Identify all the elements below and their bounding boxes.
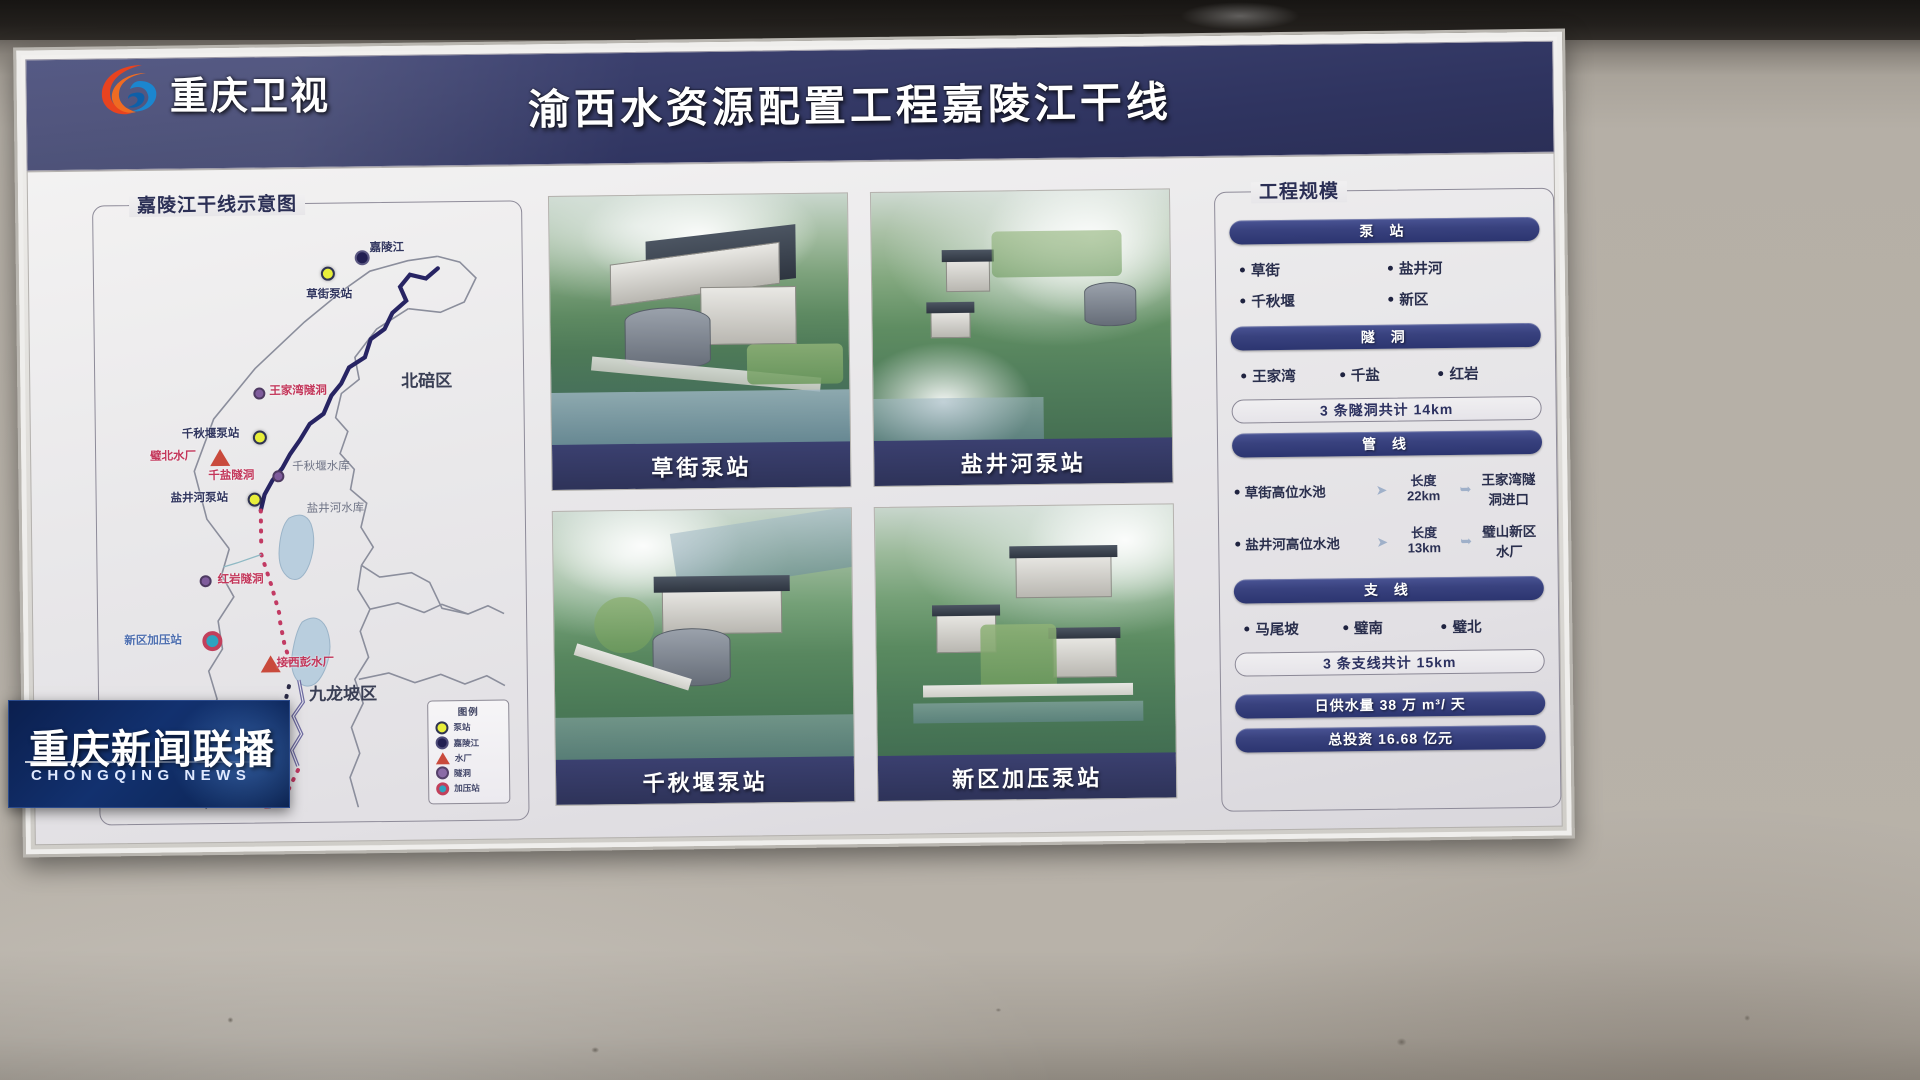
map-legend-label-plant: 水厂 (455, 751, 472, 763)
spec-panel-legend: 工程规模 (1241, 176, 1357, 204)
rendering-caption-caojie: 草街泵站 (552, 441, 851, 490)
map-legend-label-river: 嘉陵江 (454, 736, 480, 748)
list-item: 盐井河 (1388, 251, 1536, 284)
plant-triangle-icon (436, 752, 450, 764)
chevron-right-icon: ➤ (1375, 481, 1389, 498)
map-node-xinqu-booster[interactable] (202, 631, 222, 651)
list-item: 璧北 (1441, 610, 1540, 642)
pipeline-length: 长度13km (1393, 526, 1455, 557)
map-legend-label-booster: 加压站 (454, 782, 480, 794)
divider (25, 761, 275, 763)
map-node-qianyan-tunnel[interactable] (272, 470, 284, 482)
chevron-left-icon: ➥ (1459, 480, 1473, 497)
list-item: 红岩 (1438, 357, 1537, 389)
channel-logo: 重庆卫视 (96, 55, 356, 125)
map-label-yanjinghe-pump: 盐井河泵站 (171, 489, 229, 506)
spec-summary-branch: 3 条支线共计 15km (1235, 649, 1545, 677)
map-label-xipeng-plant: 接西彭水厂 (277, 654, 335, 671)
rendering-card-qianqiuyan[interactable]: 千秋堰泵站 (552, 507, 856, 806)
program-name-en: CHONGQING NEWS (31, 767, 251, 784)
rendering-image-yanjinghe (871, 189, 1172, 443)
spec-items-pump: 草街 盐井河 千秋堰 新区 (1230, 249, 1541, 317)
map-legend-row-booster: 加压站 (436, 781, 509, 795)
program-lower-third: 重庆新闻联播 CHONGQING NEWS (8, 700, 290, 808)
map-node-hongyan-tunnel[interactable] (200, 575, 212, 587)
map-label-qianqiuyan-reservoir: 千秋堰水库 (292, 457, 350, 474)
spec-items-tunnel: 王家湾 千盐 红岩 (1231, 355, 1541, 392)
spec-total-daily-supply: 日供水量 38 万 m³/ 天 (1235, 691, 1545, 719)
map-legend-label-tunnel: 隧洞 (454, 766, 471, 778)
map-legend-row-tunnel: 隧洞 (436, 766, 509, 780)
pipeline-length: 长度22km (1392, 474, 1454, 505)
rendering-card-yanjinghe[interactable]: 盐井河泵站 (870, 188, 1174, 487)
list-item: 千秋堰 (1240, 284, 1388, 317)
spec-section-header-pipeline: 管 线 (1232, 430, 1542, 458)
chevron-right-icon: ➤ (1375, 533, 1389, 550)
map-label-district-jiulongpo: 九龙坡区 (309, 679, 377, 705)
channel-logo-text: 重庆卫视 (170, 65, 330, 120)
list-item: 千盐 (1340, 358, 1439, 390)
pipeline-row-2: 盐井河高位水池 ➤ 长度13km ➥ 璧山新区水厂 (1233, 514, 1544, 570)
spec-total-investment: 总投资 16.68 亿元 (1236, 725, 1546, 753)
list-item: 新区 (1388, 282, 1536, 315)
pump-circle-icon (435, 721, 448, 734)
map-legend-row-plant: 水厂 (436, 751, 509, 764)
map-node-caojie-pump[interactable] (321, 267, 335, 281)
map-node-qianqiuyan-pump[interactable] (253, 430, 267, 444)
list-item: 马尾坡 (1244, 612, 1343, 644)
rendering-caption-qianqiuyan: 千秋堰泵站 (556, 756, 855, 805)
map-node-bibei-plant[interactable] (210, 449, 230, 466)
map-label-xinqu-booster: 新区加压站 (124, 631, 182, 648)
map-label-jialing-river: 嘉陵江 (369, 239, 404, 255)
map-label-caojie-pump: 草街泵站 (306, 285, 352, 302)
rendering-image-xinqu (875, 504, 1176, 758)
ceiling-dark-strip (0, 0, 1920, 40)
spec-summary-tunnel: 3 条隧洞共计 14km (1232, 396, 1542, 424)
spec-panel: 工程规模 泵 站 草街 盐井河 千秋堰 新区 隧 洞 (1214, 188, 1562, 812)
map-label-qianqiuyan-pump: 千秋堰泵站 (182, 425, 240, 442)
rendering-image-caojie (549, 193, 850, 447)
map-label-wangjiawan-tunnel: 王家湾隧洞 (269, 382, 327, 399)
map-label-qianyan-tunnel: 千盐隧洞 (208, 467, 254, 484)
map-node-jialing-river[interactable] (355, 250, 370, 265)
tunnel-circle-icon (436, 766, 449, 779)
map-label-yanjinghe-reservoir: 盐井河水库 (307, 499, 365, 516)
map-panel-legend: 嘉陵江干线示意图 (119, 189, 315, 218)
rendering-image-qianqiuyan (553, 508, 854, 762)
pipeline-destination: 王家湾隧洞进口 (1476, 468, 1540, 509)
pipeline-source: 盐井河高位水池 (1235, 532, 1371, 554)
river-circle-icon (436, 736, 449, 749)
list-item: 王家湾 (1241, 359, 1340, 391)
pipeline-row-1: 草街高位水池 ➤ 长度22km ➥ 王家湾隧洞进口 (1232, 462, 1543, 518)
rendering-gallery: 草街泵站 (548, 188, 1196, 826)
map-legend-row-pump: 泵站 (435, 720, 508, 734)
spec-section-header-branch: 支 线 (1234, 576, 1544, 604)
chongqing-tv-swirl-icon (96, 59, 162, 119)
spec-section-header-tunnel: 隧 洞 (1231, 323, 1541, 351)
map-legend-row-river: 嘉陵江 (436, 736, 509, 750)
list-item: 草街 (1240, 253, 1388, 286)
map-label-hongyan-tunnel: 红岩隧洞 (218, 570, 264, 587)
pipeline-destination: 璧山新区水厂 (1477, 520, 1541, 561)
booster-circle-icon (436, 782, 449, 795)
rendering-caption-xinqu: 新区加压泵站 (878, 752, 1177, 801)
map-node-yanjinghe-pump[interactable] (248, 493, 262, 507)
map-label-bibei-plant: 璧北水厂 (150, 447, 196, 464)
spec-section-header-pump: 泵 站 (1229, 217, 1539, 245)
pipeline-source: 草街高位水池 (1235, 480, 1371, 502)
map-node-wangjiawan-tunnel[interactable] (253, 387, 265, 399)
map-legend-title: 图例 (428, 704, 508, 719)
map-legend-box: 图例 泵站 嘉陵江 水厂 (427, 699, 510, 804)
map-label-district-beibei: 北碚区 (401, 366, 452, 392)
spec-items-branch: 马尾坡 璧南 璧北 (1234, 608, 1544, 645)
list-item: 璧南 (1343, 611, 1442, 643)
chevron-left-icon: ➥ (1459, 532, 1473, 549)
floor-texture (0, 980, 1920, 1080)
broadcast-frame: 渝西水资源配置工程嘉陵江干线 嘉陵江干线示意图 (0, 0, 1920, 1080)
rendering-caption-yanjinghe: 盐井河泵站 (874, 437, 1173, 486)
rendering-card-xinqu[interactable]: 新区加压泵站 (874, 503, 1178, 802)
rendering-card-caojie[interactable]: 草街泵站 (548, 192, 852, 491)
map-legend-label-pump: 泵站 (453, 721, 470, 733)
